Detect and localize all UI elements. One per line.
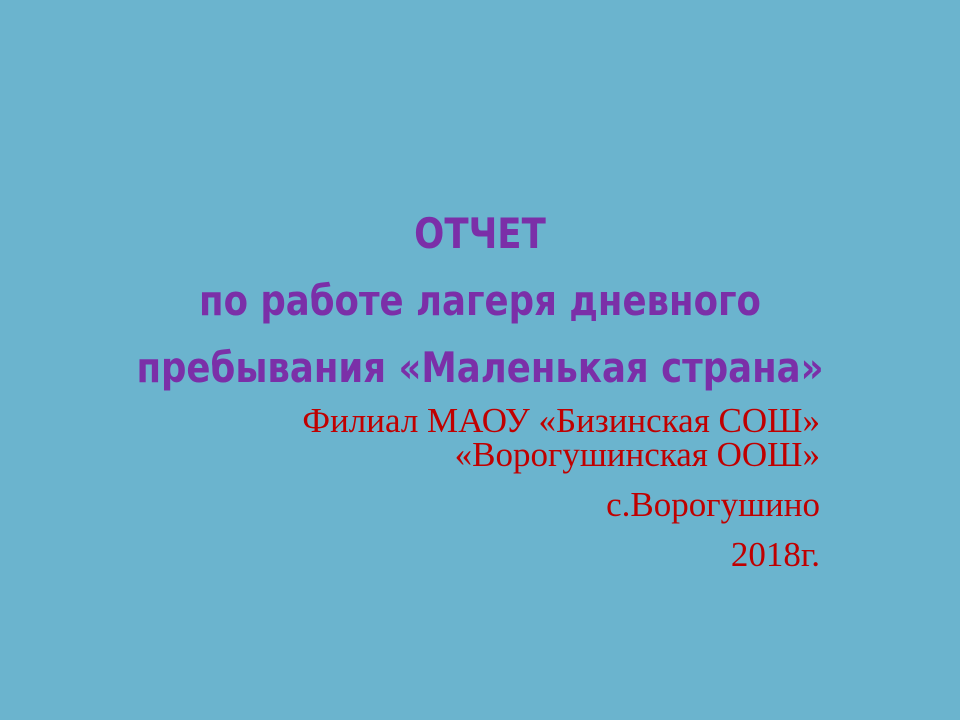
slide-subtitle: Филиал МАОУ «Бизинская СОШ» «Ворогушинск… <box>140 404 820 572</box>
title-line-1: ОТЧЕТ <box>66 200 893 267</box>
subtitle-line-school: «Ворогушинская ООШ» <box>140 438 820 472</box>
title-line-2: по работе лагеря дневного <box>66 267 893 334</box>
subtitle-line-village: с.Ворогушино <box>140 488 820 522</box>
title-line-3: пребывания «Маленькая страна» <box>66 334 893 401</box>
subtitle-line-year: 2018г. <box>140 538 820 572</box>
slide-title: ОТЧЕТ по работе лагеря дневного пребыван… <box>40 200 920 401</box>
subtitle-line-organization: Филиал МАОУ «Бизинская СОШ» <box>140 404 820 438</box>
presentation-slide: ОТЧЕТ по работе лагеря дневного пребыван… <box>0 0 960 720</box>
